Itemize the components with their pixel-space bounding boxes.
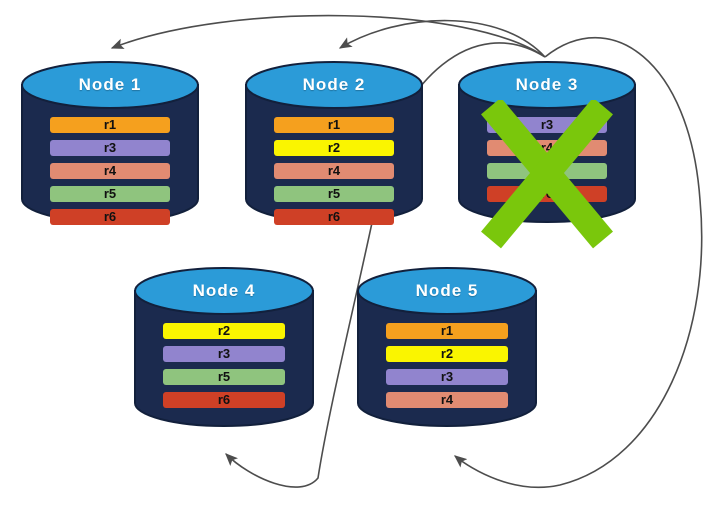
replica-list: r2r3r5r6 xyxy=(135,323,313,408)
diagram-canvas: Node 1r1r3r4r5r6Node 2r1r2r4r5r6Node 3r3… xyxy=(0,0,708,508)
replica-bar[interactable]: r5 xyxy=(487,163,607,179)
database-node[interactable]: Node 2r1r2r4r5r6 xyxy=(246,62,422,222)
replication-edge xyxy=(112,16,545,57)
replica-bar[interactable]: r4 xyxy=(274,163,394,179)
replica-bar[interactable]: r1 xyxy=(274,117,394,133)
replica-bar[interactable]: r3 xyxy=(386,369,508,385)
replica-list: r1r2r4r5r6 xyxy=(246,117,422,225)
node-label: Node 2 xyxy=(246,75,422,95)
replica-bar[interactable]: r3 xyxy=(487,117,607,133)
replica-bar[interactable]: r2 xyxy=(274,140,394,156)
replica-bar[interactable]: r2 xyxy=(163,323,285,339)
database-node[interactable]: Node 3r3r4r5r6 xyxy=(459,62,635,222)
database-node[interactable]: Node 1r1r3r4r5r6 xyxy=(22,62,198,222)
replica-bar[interactable]: r1 xyxy=(50,117,170,133)
replica-bar[interactable]: r6 xyxy=(487,186,607,202)
replica-list: r1r2r3r4 xyxy=(358,323,536,408)
replica-bar[interactable]: r4 xyxy=(487,140,607,156)
replica-bar[interactable]: r2 xyxy=(386,346,508,362)
database-node[interactable]: Node 5r1r2r3r4 xyxy=(358,268,536,426)
node-label: Node 3 xyxy=(459,75,635,95)
replica-bar[interactable]: r4 xyxy=(50,163,170,179)
node-label: Node 1 xyxy=(22,75,198,95)
replica-bar[interactable]: r6 xyxy=(274,209,394,225)
replica-bar[interactable]: r6 xyxy=(163,392,285,408)
replica-bar[interactable]: r5 xyxy=(163,369,285,385)
replica-bar[interactable]: r3 xyxy=(163,346,285,362)
replica-bar[interactable]: r5 xyxy=(274,186,394,202)
replica-list: r3r4r5r6 xyxy=(459,117,635,202)
replica-bar[interactable]: r3 xyxy=(50,140,170,156)
replica-bar[interactable]: r5 xyxy=(50,186,170,202)
replica-bar[interactable]: r4 xyxy=(386,392,508,408)
replica-list: r1r3r4r5r6 xyxy=(22,117,198,225)
node-label: Node 5 xyxy=(358,281,536,301)
replica-bar[interactable]: r1 xyxy=(386,323,508,339)
replica-bar[interactable]: r6 xyxy=(50,209,170,225)
replication-edge xyxy=(340,21,545,57)
database-node[interactable]: Node 4r2r3r5r6 xyxy=(135,268,313,426)
node-label: Node 4 xyxy=(135,281,313,301)
